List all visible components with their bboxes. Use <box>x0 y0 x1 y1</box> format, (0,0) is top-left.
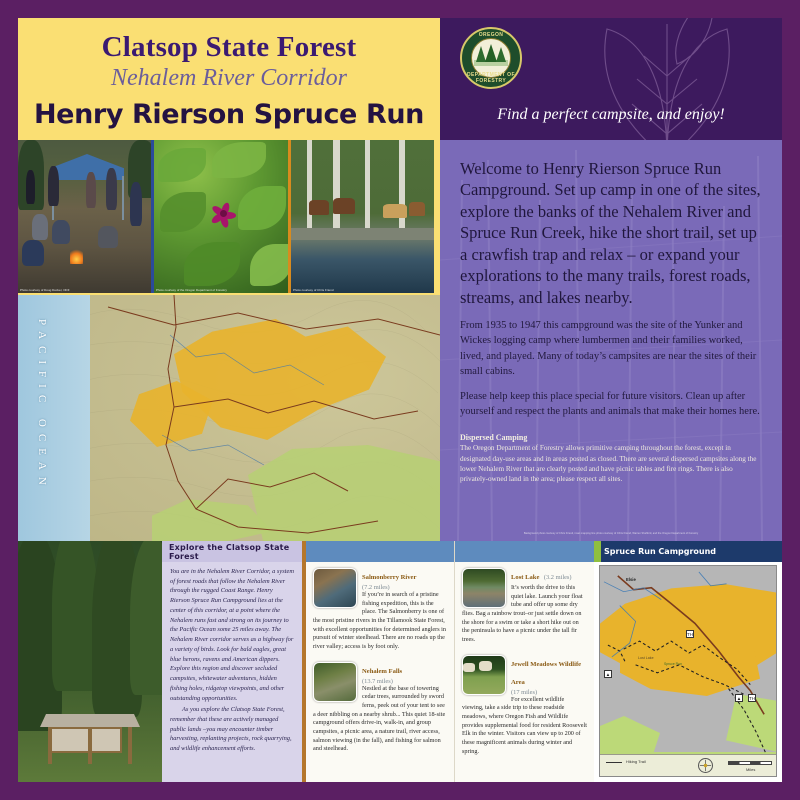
elk-scene <box>291 140 434 293</box>
campground-map-features <box>600 566 776 776</box>
campground-map-legend: Hiking Trail Miles <box>600 754 776 776</box>
map-land <box>78 295 440 541</box>
photo-salmonberry: Photo courtesy of the Oregon Department … <box>154 140 291 293</box>
photo-credit: Photo courtesy of Doug Decker, ODF <box>20 288 70 292</box>
trailhead-marker[interactable]: TH <box>686 630 694 638</box>
campground-marker[interactable]: ▲ <box>604 670 612 678</box>
photo-campers: Photo courtesy of Doug Decker, ODF <box>18 140 154 293</box>
explore-heading: Explore the Clatsop State Forest <box>162 541 302 562</box>
destination-lost-lake[interactable]: Lost Lake (3.2 miles) It’s worth the dri… <box>455 562 594 645</box>
welcome-history: From 1935 to 1947 this campground was th… <box>460 318 762 379</box>
salmonberry-scene <box>154 140 288 293</box>
poster-root: Clatsop State Forest Nehalem River Corri… <box>18 18 782 782</box>
destinations-column-1: Salmonberry River (7.2 miles) If you’re … <box>302 541 454 782</box>
destination-title: Jewell Meadows Wildlife Area <box>511 661 581 686</box>
page-title-tertiary: Henry Rierson Spruce Run <box>18 99 440 130</box>
destination-distance: (3.2 miles) <box>544 574 572 581</box>
map-roads <box>78 295 440 541</box>
destinations-column-2: Lost Lake (3.2 miles) It’s worth the dri… <box>454 541 594 782</box>
title-block: Clatsop State Forest Nehalem River Corri… <box>18 18 440 140</box>
destination-body: For excellent wildlife viewing, take a s… <box>462 696 587 757</box>
photo-strip: Photo courtesy of Doug Decker, ODF <box>18 140 440 293</box>
salmonberry-flower <box>210 202 244 234</box>
salmonberry-river-thumb <box>313 568 357 608</box>
photo-elk: Photo courtesy of Chris Friend <box>291 140 434 293</box>
seal-bottom-text: DEPARTMENT OF FORESTRY <box>462 72 520 84</box>
trailhead-marker-2[interactable]: TH <box>748 694 756 702</box>
dispersed-camping-heading: Dispersed Camping <box>460 433 762 442</box>
destinations-header-bar-1 <box>306 541 454 562</box>
regional-map[interactable]: PACIFIC OCEAN CLATSOPSTATE FOREST TILLAM… <box>18 293 440 541</box>
welcome-panel: Welcome to Henry Rierson Spruce Run Camp… <box>440 140 782 541</box>
photo-credit: Photo courtesy of Chris Friend <box>293 288 334 292</box>
destination-jewell-meadows[interactable]: Jewell Meadows Wildlife Area (17 miles) … <box>455 645 594 757</box>
compass-rose-icon <box>698 758 713 773</box>
campground-map-header: Spruce Run Campground <box>594 541 782 562</box>
campground-map-heading: Spruce Run Campground <box>604 547 716 556</box>
welcome-photo-credit: Background photo courtesy of Chris Frien… <box>460 532 762 535</box>
odf-seal: OREGON DEPARTMENT OF FORESTRY <box>460 27 522 89</box>
seal-top-text: OREGON <box>462 32 520 38</box>
destination-nehalem-falls[interactable]: Nehalem Falls (13.7 miles) Nestled at th… <box>306 652 454 754</box>
destinations-header-bar-2 <box>455 541 594 562</box>
destination-salmonberry-river[interactable]: Salmonberry River (7.2 miles) If you’re … <box>306 562 454 652</box>
page-title: Clatsop State Forest <box>18 32 440 62</box>
lost-lake-thumb <box>462 568 506 608</box>
map-place-elsie: Elsie <box>626 577 636 582</box>
green-accent-bar <box>594 541 601 562</box>
ocean-label: PACIFIC OCEAN <box>36 319 48 492</box>
explore-panel: Explore the Clatsop State Forest You are… <box>162 541 302 782</box>
explore-body: You are in the Nehalem River Corridor, a… <box>162 562 302 754</box>
information-kiosk <box>40 714 140 764</box>
jewell-meadows-thumb <box>462 655 506 695</box>
header-banner: OREGON DEPARTMENT OF FORESTRY Find a per… <box>440 18 782 140</box>
map-place-spruce-run: Spruce Run <box>664 662 682 666</box>
welcome-content: Welcome to Henry Rierson Spruce Run Camp… <box>440 140 782 484</box>
photo-kiosk <box>18 541 162 782</box>
destination-title: Nehalem Falls <box>362 668 402 675</box>
campground-detail-map[interactable]: TH TH ▲ ▲ Elsie Lost Lake Spruce Run Hik… <box>599 565 777 777</box>
pacific-ocean: PACIFIC OCEAN <box>18 295 90 541</box>
photo-credit: Photo courtesy of the Oregon Department … <box>156 288 227 292</box>
explore-para-1: You are in the Nehalem River Corridor, a… <box>170 567 294 703</box>
forest-trees-icon <box>474 44 508 66</box>
campers-scene <box>18 140 151 293</box>
dispersed-camping-body: The Oregon Department of Forestry allows… <box>460 443 762 484</box>
scale-label: Miles <box>746 767 755 772</box>
welcome-lead: Welcome to Henry Rierson Spruce Run Camp… <box>460 158 762 308</box>
explore-para-2: As you explore the Clatsop State Forest,… <box>170 705 294 754</box>
destination-title: Lost Lake <box>511 574 539 581</box>
campground-map-panel: Spruce Run Campground <box>594 541 782 782</box>
tagline: Find a perfect campsite, and enjoy! <box>440 106 782 124</box>
destination-title: Salmonberry River <box>362 574 416 581</box>
nehalem-falls-thumb <box>313 662 357 702</box>
campground-marker-2[interactable]: ▲ <box>735 694 743 702</box>
page-subtitle: Nehalem River Corridor <box>18 63 440 94</box>
bottom-section: Explore the Clatsop State Forest You are… <box>18 541 782 782</box>
map-place-lost-lake: Lost Lake <box>638 656 654 660</box>
hiking-trail-legend-label: Hiking Trail <box>626 759 646 764</box>
welcome-stewardship: Please help keep this place special for … <box>460 389 762 419</box>
